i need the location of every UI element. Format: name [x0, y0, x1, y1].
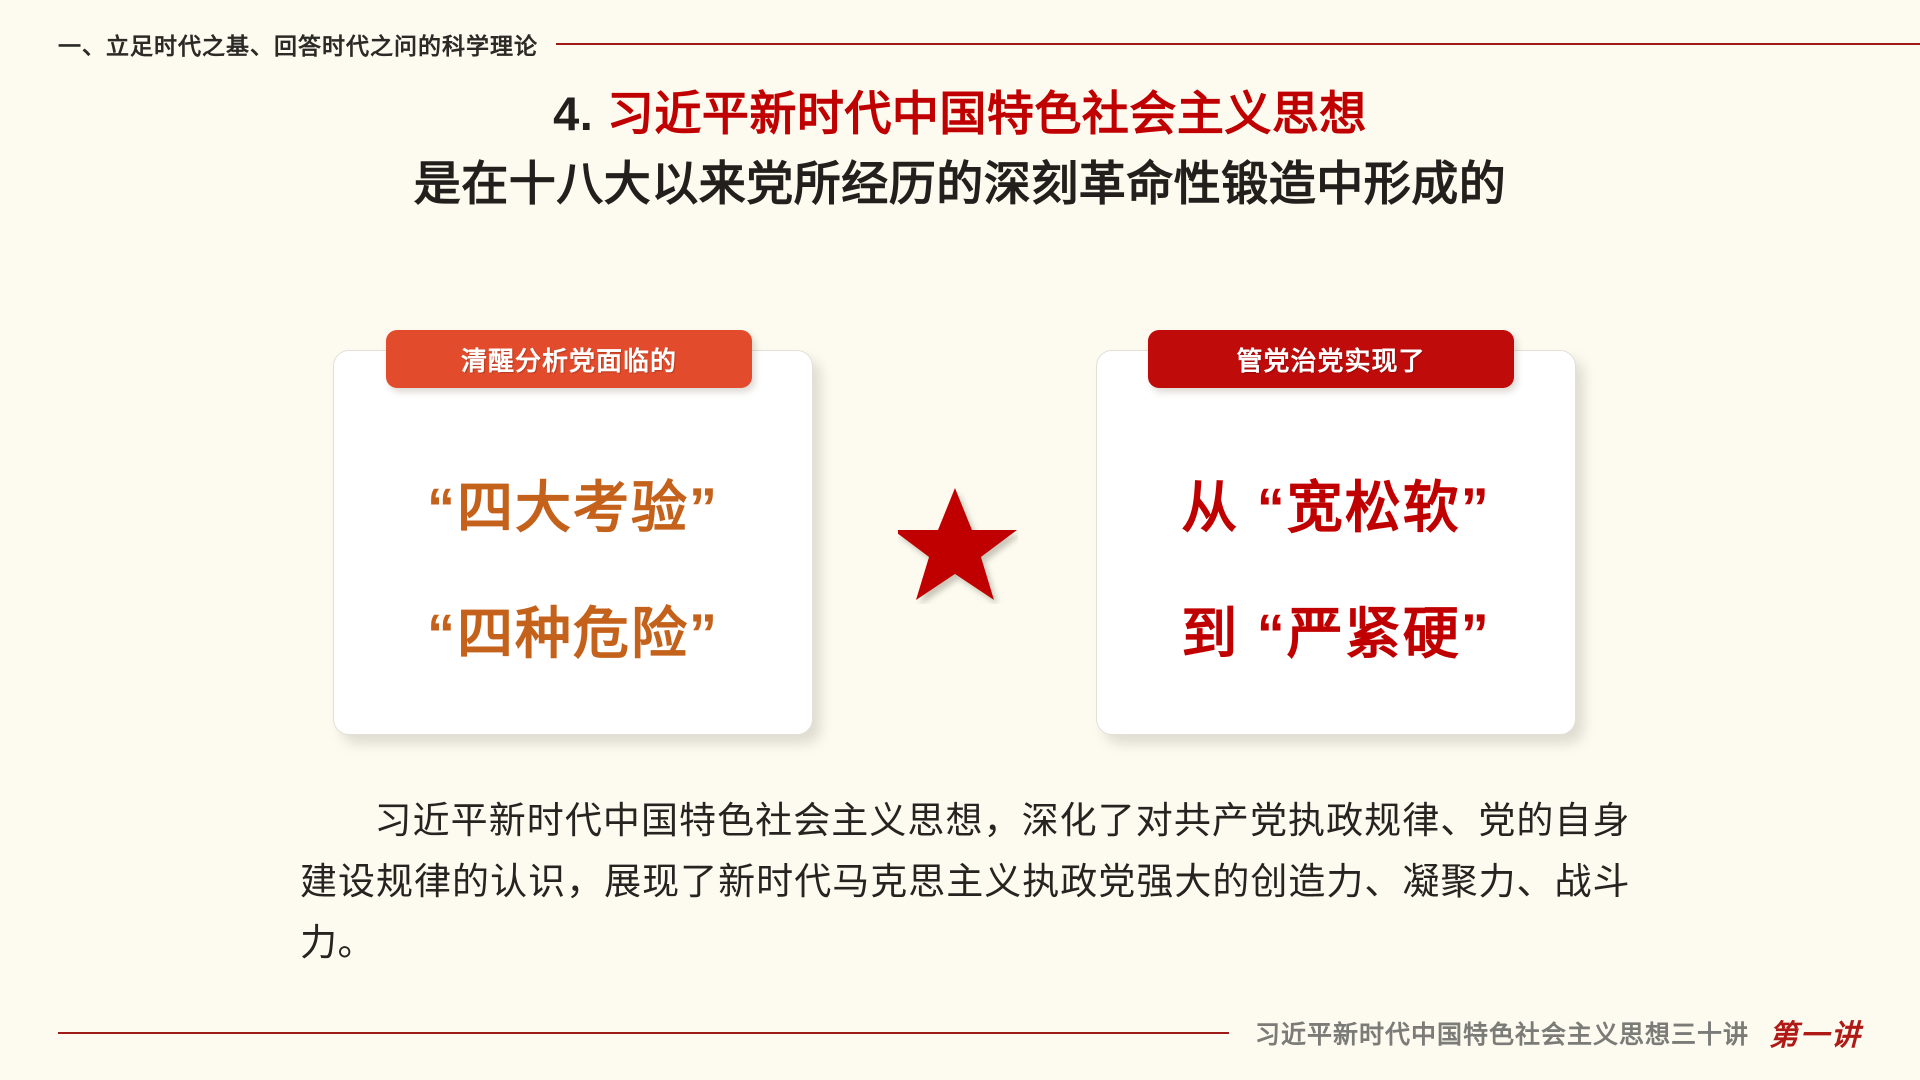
card-left-badge: 清醒分析党面临的 [386, 330, 752, 388]
paragraph-text: 习近平新时代中国特色社会主义思想，深化了对共产党执政规律、党的自身建设规律的认识… [300, 800, 1630, 963]
slide-header: 一、立足时代之基、回答时代之问的科学理论 [0, 22, 1920, 66]
title-line-1: 4. 习近平新时代中国特色社会主义思想 [0, 84, 1920, 144]
card-left-phrase-2: “四种危险” [334, 599, 812, 669]
card-right-body: 从 “宽松软” 到 “严紧硬” [1097, 429, 1575, 669]
section-label: 一、立足时代之基、回答时代之问的科学理论 [58, 27, 538, 61]
slide-footer: 习近平新时代中国特色社会主义思想三十讲 第一讲 [0, 1008, 1920, 1058]
title-line-2: 是在十八大以来党所经历的深刻革命性锻造中形成的 [0, 154, 1920, 214]
card-left-phrase-1: “四大考验” [334, 473, 812, 543]
star-icon [898, 486, 1018, 604]
slide-title-block: 4. 习近平新时代中国特色社会主义思想 是在十八大以来党所经历的深刻革命性锻造中… [0, 84, 1920, 214]
header-divider-rule [556, 43, 1920, 45]
card-right-phrase-1: 从 “宽松软” [1097, 473, 1575, 543]
concept-card-right: 从 “宽松软” 到 “严紧硬” [1096, 350, 1576, 735]
card-right-phrase-2: 到 “严紧硬” [1097, 599, 1575, 669]
footer-lecture-number: 第一讲 [1769, 1012, 1862, 1054]
title-number: 4. [553, 87, 593, 140]
body-paragraph: 习近平新时代中国特色社会主义思想，深化了对共产党执政规律、党的自身建设规律的认识… [300, 790, 1630, 973]
footer-divider-rule [58, 1032, 1229, 1034]
card-left-body: “四大考验” “四种危险” [334, 429, 812, 669]
title-highlight: 习近平新时代中国特色社会主义思想 [607, 87, 1367, 140]
concept-card-left: “四大考验” “四种危险” [333, 350, 813, 735]
footer-book-title: 习近平新时代中国特色社会主义思想三十讲 [1255, 1015, 1749, 1051]
card-right-badge: 管党治党实现了 [1148, 330, 1514, 388]
